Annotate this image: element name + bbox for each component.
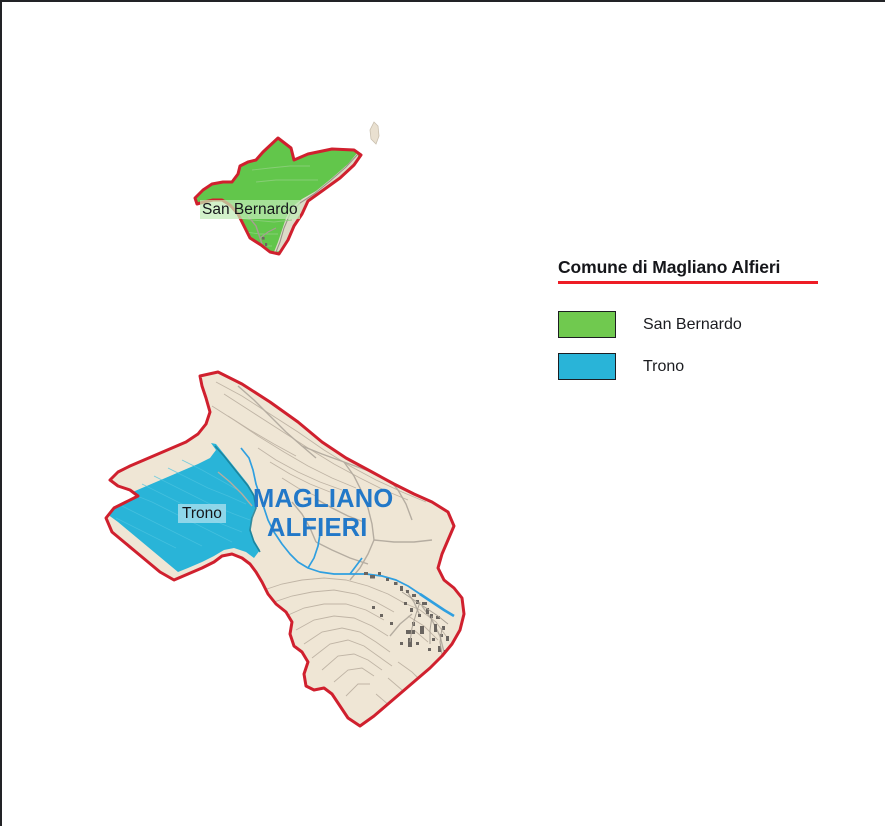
area-magliano-alfieri-main[interactable] [106,372,464,726]
area-san-bernardo-exclave[interactable] [195,122,379,258]
map-canvas[interactable] [2,2,885,826]
legend: Comune di Magliano Alfieri San Bernardo … [558,257,858,388]
map-page: San Bernardo Trono MAGLIANO ALFIERI Comu… [0,0,885,826]
legend-item-trono[interactable]: Trono [558,346,858,388]
legend-label-trono: Trono [643,358,684,376]
san-bernardo-fill[interactable] [195,138,361,254]
legend-swatch-trono [558,353,616,380]
neighbour-sliver [370,122,379,144]
legend-swatch-san-bernardo [558,311,616,338]
legend-item-san-bernardo[interactable]: San Bernardo [558,304,858,346]
legend-title-underline [558,281,818,284]
legend-label-san-bernardo: San Bernardo [643,316,742,334]
legend-title: Comune di Magliano Alfieri [558,257,858,281]
